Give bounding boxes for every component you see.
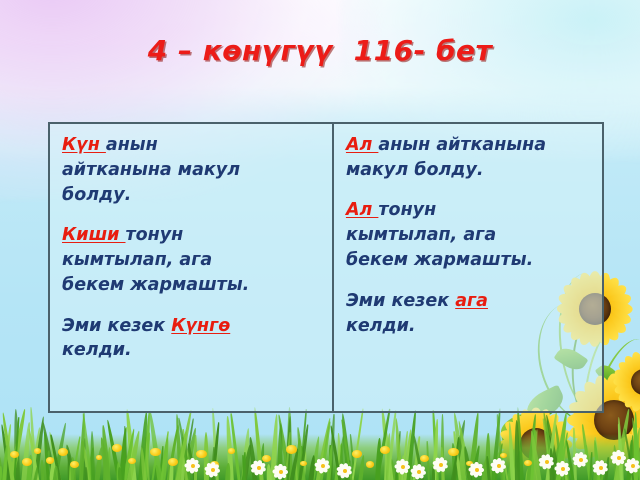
meadow-flower-yellow — [448, 448, 459, 456]
table-cell-right: Ал анын айтканына макул болду. Ал тонунк… — [334, 124, 602, 411]
highlighted-word: Күнгө — [171, 316, 230, 336]
meadow-flower-daisy — [540, 455, 553, 468]
highlighted-word: Киши — [62, 225, 126, 245]
meadow-flower-daisy — [434, 458, 447, 471]
meadow-flower-yellow — [300, 461, 307, 466]
meadow-flower-daisy — [556, 462, 569, 475]
meadow-flower-yellow — [196, 450, 207, 458]
meadow-flower-daisy — [492, 459, 505, 472]
text-line: келди. — [346, 314, 592, 339]
text-line: Күн анын — [62, 133, 322, 158]
meadow-flower-daisy — [412, 465, 425, 478]
meadow-flower-daisy — [274, 465, 287, 478]
plain-text: болду. — [62, 185, 131, 205]
meadow-flower-daisy — [252, 461, 265, 474]
plain-text: кымтылап, ага — [62, 250, 212, 270]
plain-text: бекем жармашты. — [346, 250, 533, 270]
slide-canvas: 4 – көнүгүү 116- бет Күн анынайтканына м… — [0, 0, 640, 480]
plain-text: бекем жармашты. — [62, 275, 249, 295]
highlighted-word: Ал — [346, 200, 378, 220]
comparison-table: Күн анынайтканына макулболду. Киши тонун… — [48, 122, 604, 413]
meadow-flower-yellow — [524, 460, 532, 466]
text-line: бекем жармашты. — [62, 273, 322, 298]
meadow-flower-daisy — [574, 453, 587, 466]
meadow-flower-yellow — [70, 461, 79, 468]
text-line: макул болду. — [346, 158, 592, 183]
text-line: болду. — [62, 183, 322, 208]
plain-text: кымтылап, ага — [346, 225, 496, 245]
text-line: кымтылап, ага — [346, 223, 592, 248]
highlighted-word: Күн — [62, 135, 106, 155]
plain-text: тонун — [126, 225, 184, 245]
meadow-flower-daisy — [316, 459, 329, 472]
text-line: Киши тонун — [62, 223, 322, 248]
meadow-flower-yellow — [128, 458, 136, 464]
meadow-flower-daisy — [470, 463, 483, 476]
text-line: кымтылап, ага — [62, 248, 322, 273]
meadow-flower-daisy — [186, 459, 199, 472]
text-line: айтканына макул — [62, 158, 322, 183]
meadow-flower-daisy — [206, 463, 219, 476]
meadow-flower-daisy — [338, 464, 351, 477]
plain-text: Эми кезек — [62, 316, 171, 336]
meadow-flower-daisy — [626, 459, 639, 472]
meadow-flower-yellow — [34, 448, 41, 454]
text-line: Эми кезек ага — [346, 289, 592, 314]
text-line: бекем жармашты. — [346, 248, 592, 273]
blank-line — [62, 298, 322, 314]
plain-text: келди. — [346, 316, 416, 336]
grass-blade — [53, 466, 58, 480]
plain-text: макул болду. — [346, 160, 484, 180]
meadow-flower-yellow — [500, 453, 507, 458]
highlighted-word: ага — [455, 291, 488, 311]
table-cell-left: Күн анынайтканына макулболду. Киши тонун… — [50, 124, 334, 411]
meadow-flower-yellow — [10, 451, 19, 458]
meadow-flower-yellow — [352, 450, 362, 458]
blank-line — [346, 183, 592, 199]
meadow-flower-daisy — [612, 451, 625, 464]
meadow-flower-yellow — [380, 446, 390, 454]
text-line: Ал тонун — [346, 198, 592, 223]
grass-blade — [225, 463, 231, 480]
page-title: 4 – көнүгүү 116- бет — [0, 34, 640, 67]
text-line: Эми кезек Күнгө — [62, 314, 322, 339]
meadow-flower-yellow — [286, 445, 297, 454]
blank-line — [62, 208, 322, 224]
meadow-flower-yellow — [150, 448, 161, 456]
plain-text: анын айтканына — [378, 135, 546, 155]
plain-text: анын — [106, 135, 158, 155]
plain-text: тонун — [378, 200, 436, 220]
text-line: келди. — [62, 338, 322, 363]
highlighted-word: Ал — [346, 135, 378, 155]
meadow-flower-yellow — [22, 458, 32, 466]
plain-text: Эми кезек — [346, 291, 455, 311]
meadow-flower-daisy — [396, 460, 409, 473]
blank-line — [346, 273, 592, 289]
meadow-flower-daisy — [594, 461, 607, 474]
plain-text: келди. — [62, 340, 132, 360]
meadow-flower-yellow — [58, 448, 68, 456]
plain-text: айтканына макул — [62, 160, 240, 180]
meadow-flower-yellow — [168, 458, 178, 466]
text-line: Ал анын айтканына — [346, 133, 592, 158]
